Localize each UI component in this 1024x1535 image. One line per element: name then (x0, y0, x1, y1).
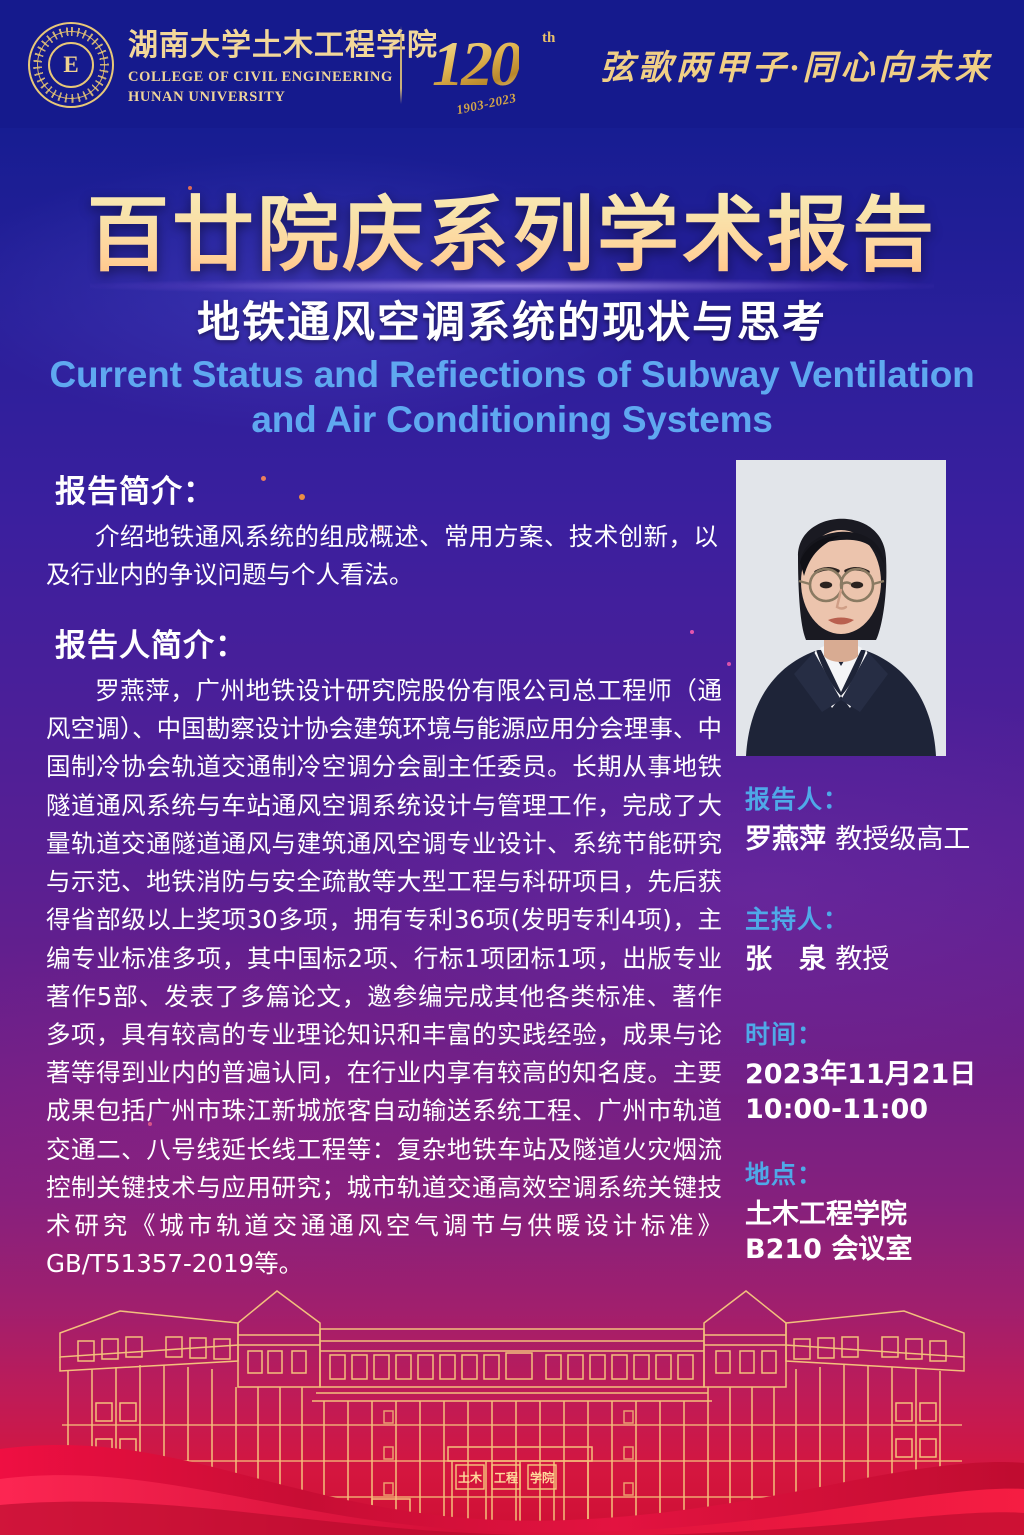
building-sign-part-3: 学院 (530, 1470, 554, 1485)
venue-line2: B210 会议室 (745, 1232, 912, 1267)
speaker-portrait-photo (736, 460, 946, 756)
college-name-en-line2: HUNAN UNIVERSITY (128, 89, 438, 106)
venue-label: 地点： (745, 1155, 912, 1191)
host-label: 主持人： (745, 900, 889, 936)
poster-subtitle-en: Current Status and Refiections of Subway… (32, 352, 992, 442)
poster-main-title: 百廿院庆系列学术报告 (0, 168, 1024, 287)
time-label: 时间： (745, 1015, 976, 1051)
host-name: 张 泉 (745, 944, 826, 975)
college-building-illustration: 土木 工程 学院 (0, 1275, 1024, 1535)
spark-dot (727, 662, 731, 666)
speaker-info-block: 报告人： 罗燕萍 教授级高工 (745, 780, 970, 857)
abstract-heading: 报告简介： (55, 466, 215, 511)
speaker-value: 罗燕萍 教授级高工 (745, 822, 970, 857)
portrait-illustration (736, 460, 946, 756)
speaker-bio-heading: 报告人简介： (55, 620, 247, 665)
spark-dot (261, 476, 266, 481)
poster-header: E 湖南大学土木工程学院 COLLEGE OF CIVIL ENGINEERIN… (0, 0, 1024, 128)
host-value: 张 泉 教授 (745, 942, 889, 977)
university-name-cn: 湖南大学土木工程学院 (128, 30, 438, 62)
speaker-bio-body: 罗燕萍，广州地铁设计研究院股份有限公司总工程师（通风空调）、中国勘察设计协会建筑… (46, 672, 722, 1284)
host-title: 教授 (835, 944, 889, 975)
university-name-group: 湖南大学土木工程学院 COLLEGE OF CIVIL ENGINEERING … (128, 30, 438, 106)
building-sign-part-1: 土木 (458, 1470, 483, 1485)
poster-root: E 湖南大学土木工程学院 COLLEGE OF CIVIL ENGINEERIN… (0, 0, 1024, 1535)
venue-line1: 土木工程学院 (745, 1197, 912, 1232)
anniversary-ordinal: th (542, 30, 555, 47)
poster-subtitle-cn: 地铁通风空调系统的现状与思考 (0, 288, 1024, 350)
venue-info-block: 地点： 土木工程学院 B210 会议室 (745, 1155, 912, 1267)
time-info-block: 时间： 2023年11月21日 10:00-11:00 (745, 1015, 976, 1127)
anniversary-slogan: 弦歌两甲子·同心向未来 (600, 40, 993, 89)
speaker-name: 罗燕萍 (745, 824, 826, 855)
spark-dot (299, 494, 305, 500)
seal-letter: E (48, 42, 94, 88)
speaker-title: 教授级高工 (835, 824, 970, 855)
speaker-label: 报告人： (745, 780, 970, 816)
time-date: 2023年11月21日 (745, 1057, 976, 1092)
anniversary-logo-icon: 120 th 1903-2023 (430, 14, 590, 118)
university-seal-icon: E (28, 22, 114, 108)
college-name-en-line1: COLLEGE OF CIVIL ENGINEERING (128, 69, 438, 86)
spark-dot (690, 630, 694, 634)
building-sign-part-2: 工程 (494, 1470, 518, 1485)
abstract-body: 介绍地铁通风系统的组成概述、常用方案、技术创新，以及行业内的争议问题与个人看法。 (46, 518, 718, 594)
host-info-block: 主持人： 张 泉 教授 (745, 900, 889, 977)
anniversary-number: 120 (432, 32, 519, 96)
time-range: 10:00-11:00 (745, 1092, 976, 1127)
header-divider (400, 26, 402, 104)
